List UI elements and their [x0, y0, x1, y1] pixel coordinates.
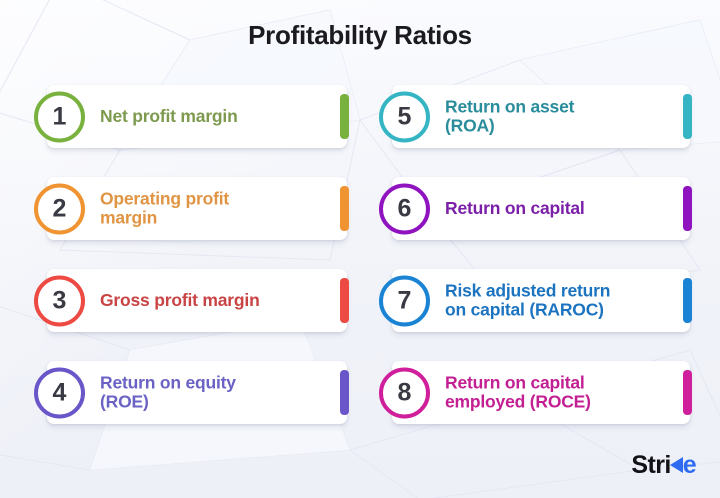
ratio-label-2: Operating profit margin [100, 189, 325, 228]
ratio-number-4: 4 [53, 380, 67, 405]
logo-text-suffix: e [683, 451, 696, 480]
ratio-number-2: 2 [53, 196, 67, 221]
ratio-accent-bar-2 [340, 186, 349, 231]
ratio-accent-bar-1 [340, 94, 349, 139]
logo-arrow-k-icon [669, 453, 684, 473]
ratio-number-5: 5 [398, 104, 412, 129]
ratio-number-badge-6: 6 [379, 183, 430, 234]
ratio-card-1[interactable]: 1 Net profit margin [47, 85, 347, 148]
strike-logo[interactable]: Stri e [631, 451, 696, 480]
ratio-label-1: Net profit margin [100, 107, 325, 127]
ratio-label-7: Risk adjusted return on capital (RAROC) [445, 281, 668, 320]
ratio-accent-bar-5 [683, 94, 692, 139]
ratio-label-8: Return on capital employed (ROCE) [445, 373, 668, 412]
logo-text-prefix: Stri [631, 451, 670, 480]
ratio-number-badge-2: 2 [34, 183, 85, 234]
ratio-card-6[interactable]: 6 Return on capital [392, 177, 690, 240]
ratio-card-4[interactable]: 4 Return on equity (ROE) [47, 361, 347, 424]
ratio-card-5[interactable]: 5 Return on asset (ROA) [392, 85, 690, 148]
ratio-number-badge-3: 3 [34, 275, 85, 326]
ratio-accent-bar-3 [340, 278, 349, 323]
ratio-number-badge-5: 5 [379, 91, 430, 142]
ratio-number-1: 1 [53, 104, 67, 129]
ratio-card-8[interactable]: 8 Return on capital employed (ROCE) [392, 361, 690, 424]
ratio-number-badge-8: 8 [379, 367, 430, 418]
ratio-number-badge-1: 1 [34, 91, 85, 142]
ratio-number-6: 6 [398, 196, 412, 221]
infographic-canvas: Profitability Ratios 1 Net profit margin… [0, 0, 720, 498]
ratio-card-grid: 1 Net profit margin 2 Operating profit m… [0, 85, 720, 455]
ratio-card-2[interactable]: 2 Operating profit margin [47, 177, 347, 240]
ratio-accent-bar-6 [683, 186, 692, 231]
ratio-label-6: Return on capital [445, 199, 668, 219]
ratio-number-badge-4: 4 [34, 367, 85, 418]
ratio-card-3[interactable]: 3 Gross profit margin [47, 269, 347, 332]
ratio-accent-bar-8 [683, 370, 692, 415]
ratio-number-8: 8 [398, 380, 412, 405]
ratio-label-3: Gross profit margin [100, 291, 325, 311]
page-title: Profitability Ratios [0, 20, 720, 51]
ratio-accent-bar-4 [340, 370, 349, 415]
ratio-card-7[interactable]: 7 Risk adjusted return on capital (RAROC… [392, 269, 690, 332]
ratio-number-7: 7 [398, 288, 412, 313]
ratio-accent-bar-7 [683, 278, 692, 323]
ratio-label-5: Return on asset (ROA) [445, 97, 668, 136]
ratio-number-3: 3 [53, 288, 67, 313]
ratio-number-badge-7: 7 [379, 275, 430, 326]
ratio-label-4: Return on equity (ROE) [100, 373, 325, 412]
